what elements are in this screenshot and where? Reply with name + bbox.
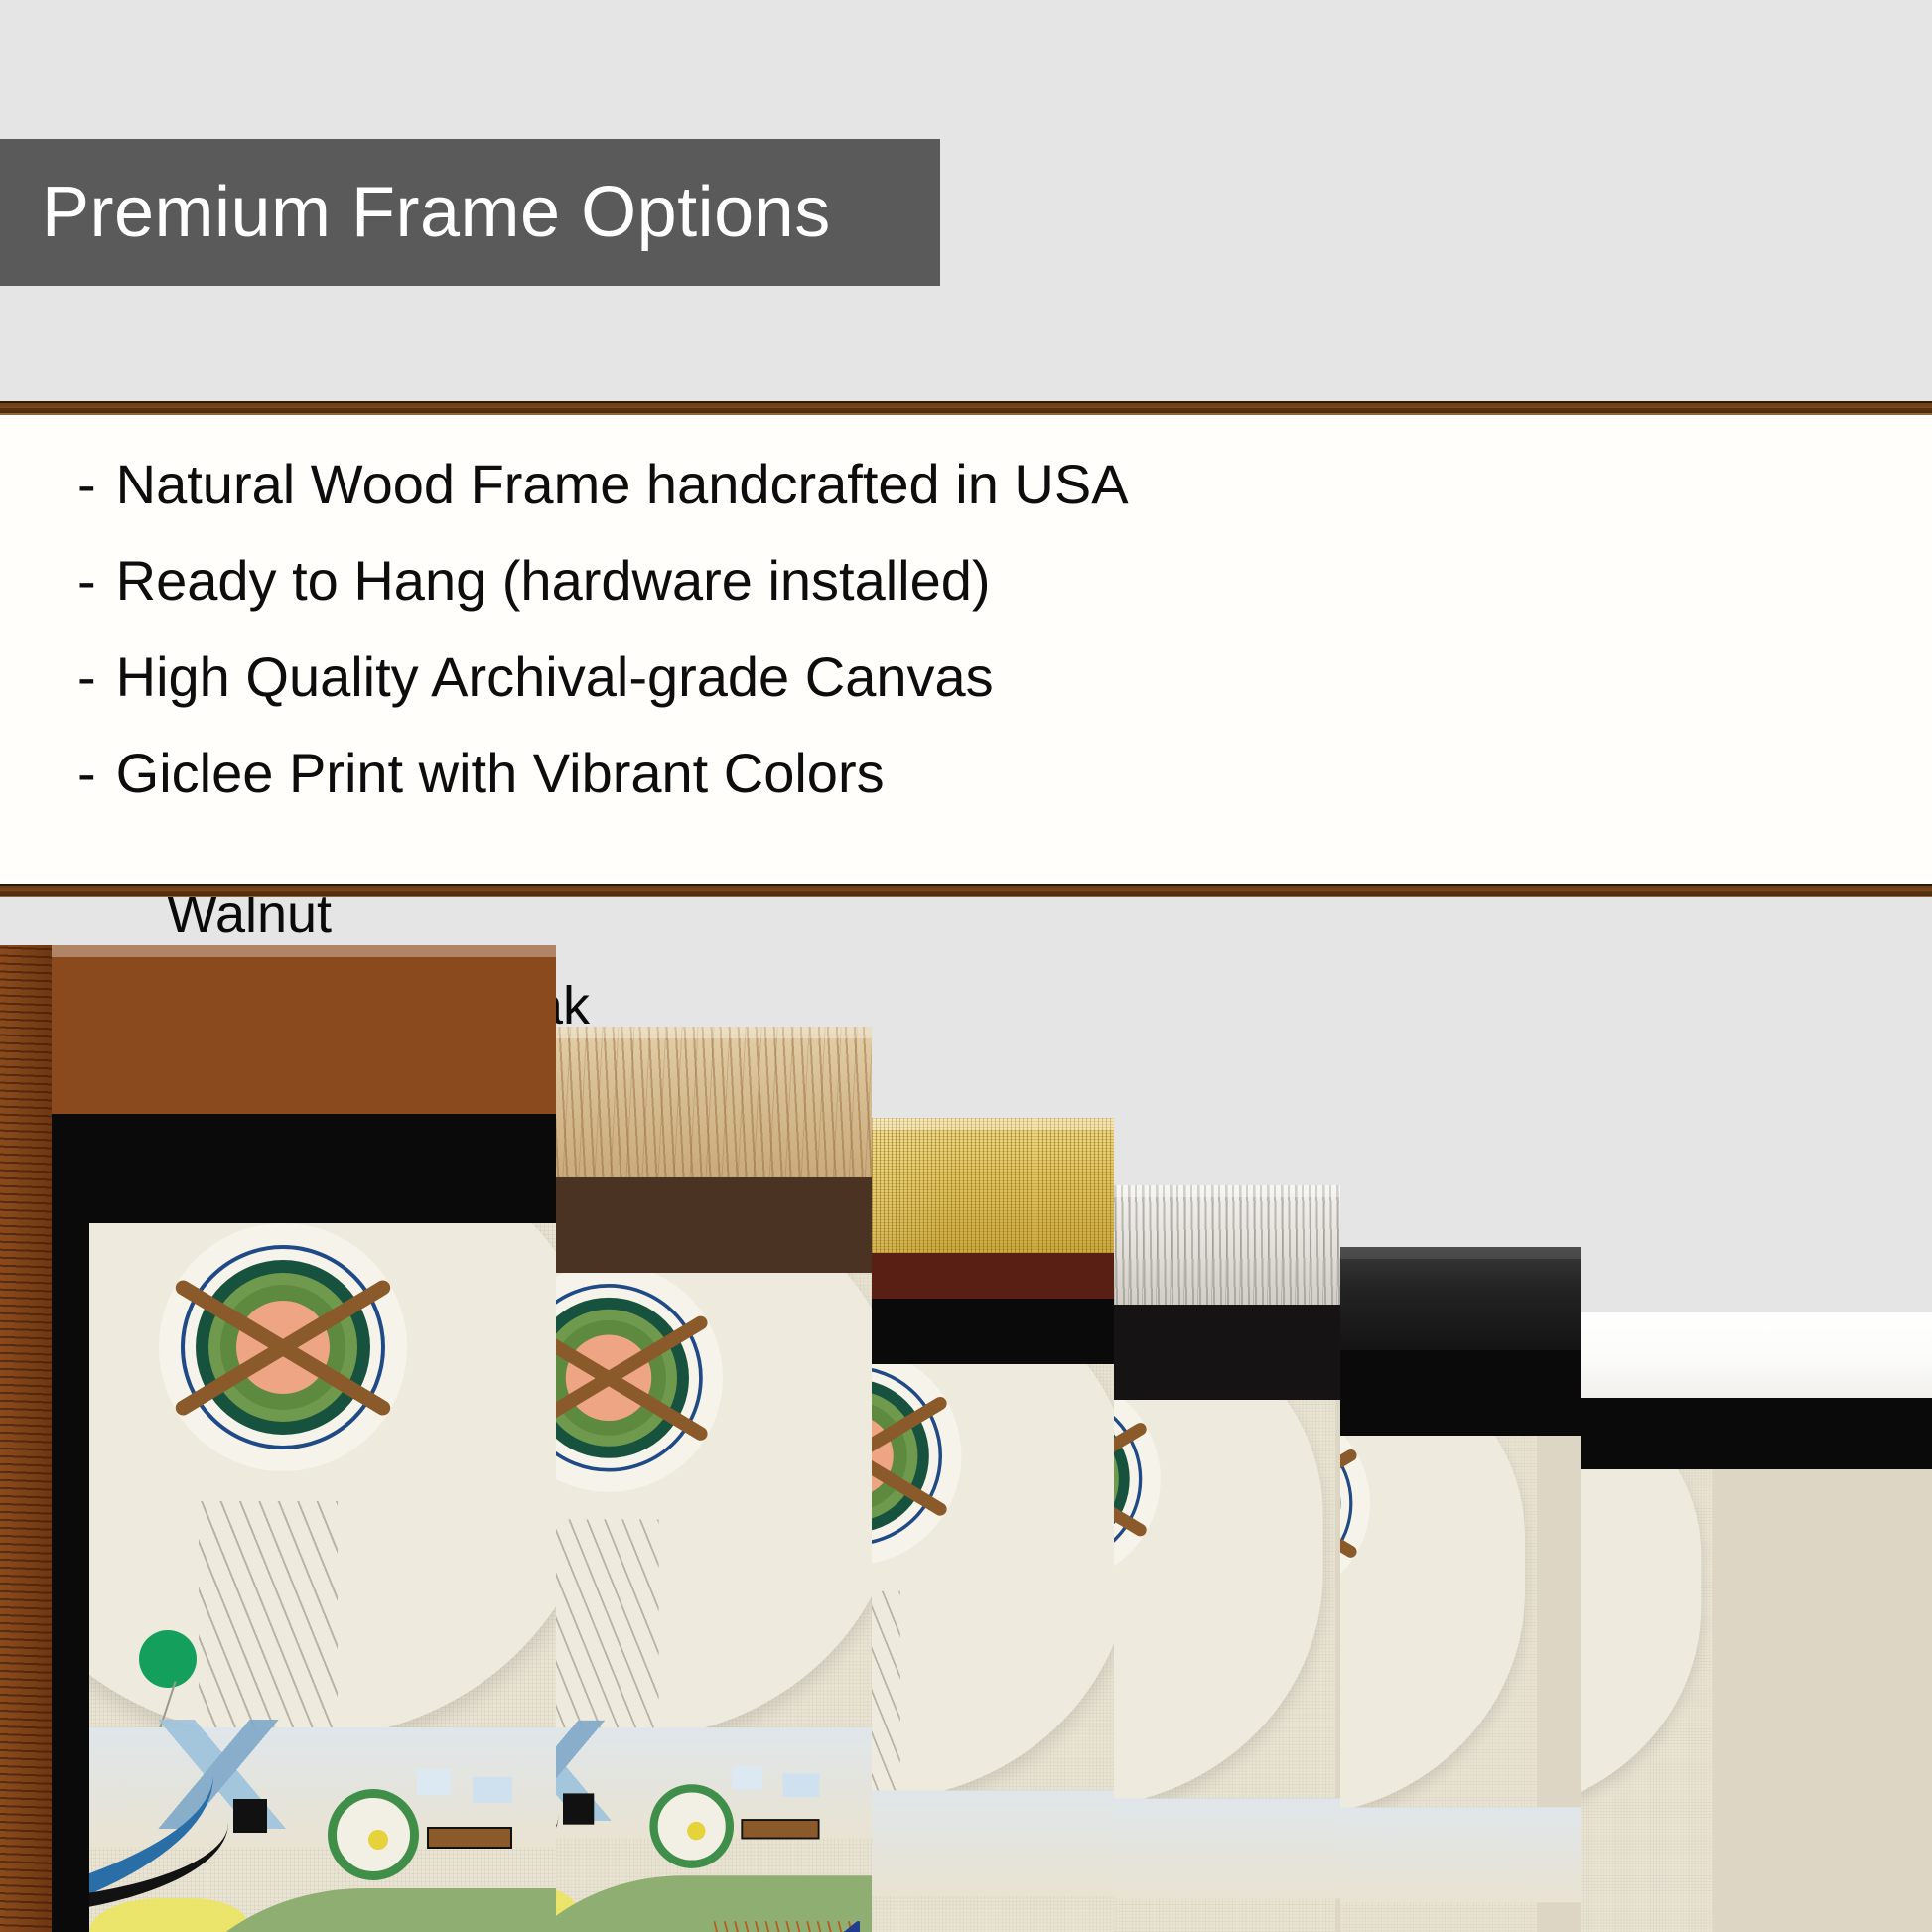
feature-label: Natural Wood Frame handcrafted in USA bbox=[116, 457, 1129, 512]
page-title: Premium Frame Options bbox=[0, 177, 831, 248]
frame-sample-walnut[interactable] bbox=[0, 945, 556, 1932]
feature-item: - High Quality Archival-grade Canvas bbox=[77, 649, 1932, 746]
features-panel: - Natural Wood Frame handcrafted in USA … bbox=[0, 415, 1932, 884]
frame-left-rail bbox=[0, 945, 52, 1932]
feature-label: Giclee Print with Vibrant Colors bbox=[116, 746, 885, 801]
divider-top bbox=[0, 401, 1932, 415]
frame-options-stage: Walnut Oak Gold Silver Black White bbox=[0, 897, 1932, 1932]
feature-item: - Natural Wood Frame handcrafted in USA bbox=[77, 457, 1932, 553]
feature-item: - Ready to Hang (hardware installed) bbox=[77, 553, 1932, 649]
bullet-dash-icon: - bbox=[77, 746, 96, 801]
bullet-dash-icon: - bbox=[77, 457, 96, 512]
feature-item: - Giclee Print with Vibrant Colors bbox=[77, 746, 1932, 842]
artwork-canvas bbox=[89, 1223, 556, 1932]
feature-label: Ready to Hang (hardware installed) bbox=[116, 553, 991, 609]
frame-label-walnut: Walnut bbox=[167, 897, 332, 941]
header-band: Premium Frame Options bbox=[0, 0, 1932, 401]
bullet-dash-icon: - bbox=[77, 553, 96, 609]
title-banner: Premium Frame Options bbox=[0, 139, 940, 286]
features-list: - Natural Wood Frame handcrafted in USA … bbox=[0, 415, 1932, 884]
frame-top-rail bbox=[0, 945, 556, 1114]
divider-bottom bbox=[0, 884, 1932, 897]
frame-liner bbox=[52, 1114, 89, 1932]
frame-liner bbox=[52, 1114, 556, 1223]
bullet-dash-icon: - bbox=[77, 649, 96, 705]
feature-label: High Quality Archival-grade Canvas bbox=[116, 649, 994, 705]
artwork bbox=[89, 1223, 556, 1932]
